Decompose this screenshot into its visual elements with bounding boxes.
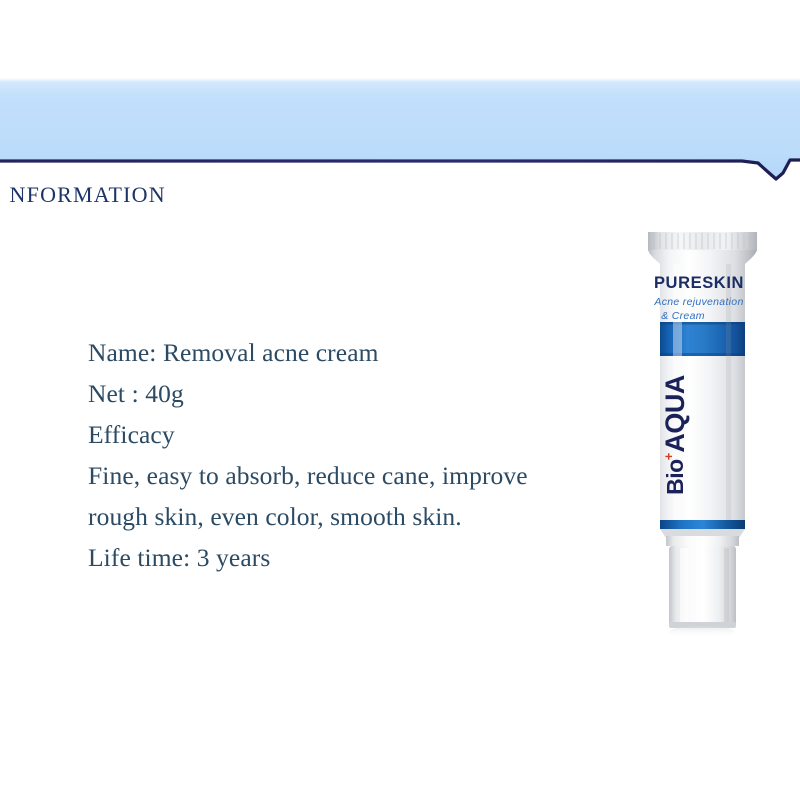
info-line-name: Name: Removal acne cream bbox=[88, 332, 568, 373]
page-title: Information bbox=[8, 176, 166, 207]
info-line-net: Net : 40g bbox=[88, 373, 568, 414]
info-line-life-time: Life time: 3 years bbox=[88, 537, 568, 578]
tube-lower-blue-ring bbox=[660, 520, 745, 529]
product-tube-graphic bbox=[640, 226, 770, 656]
information-text-block: Name: Removal acne cream Net : 40g Effic… bbox=[88, 332, 568, 578]
header-banner: Information bbox=[0, 76, 800, 186]
product-information-page: Information Name: Removal acne cream Net… bbox=[0, 0, 800, 800]
info-line-efficacy: Efficacy bbox=[88, 414, 568, 455]
tube-crimp-seal bbox=[648, 232, 757, 250]
product-image: PURESKIN Acne rejuvenation & Cream Bio +… bbox=[640, 226, 770, 656]
header-band-shape bbox=[0, 76, 800, 186]
tube-cap bbox=[666, 536, 739, 628]
info-line-description: Fine, easy to absorb, reduce cane, impro… bbox=[88, 455, 568, 537]
